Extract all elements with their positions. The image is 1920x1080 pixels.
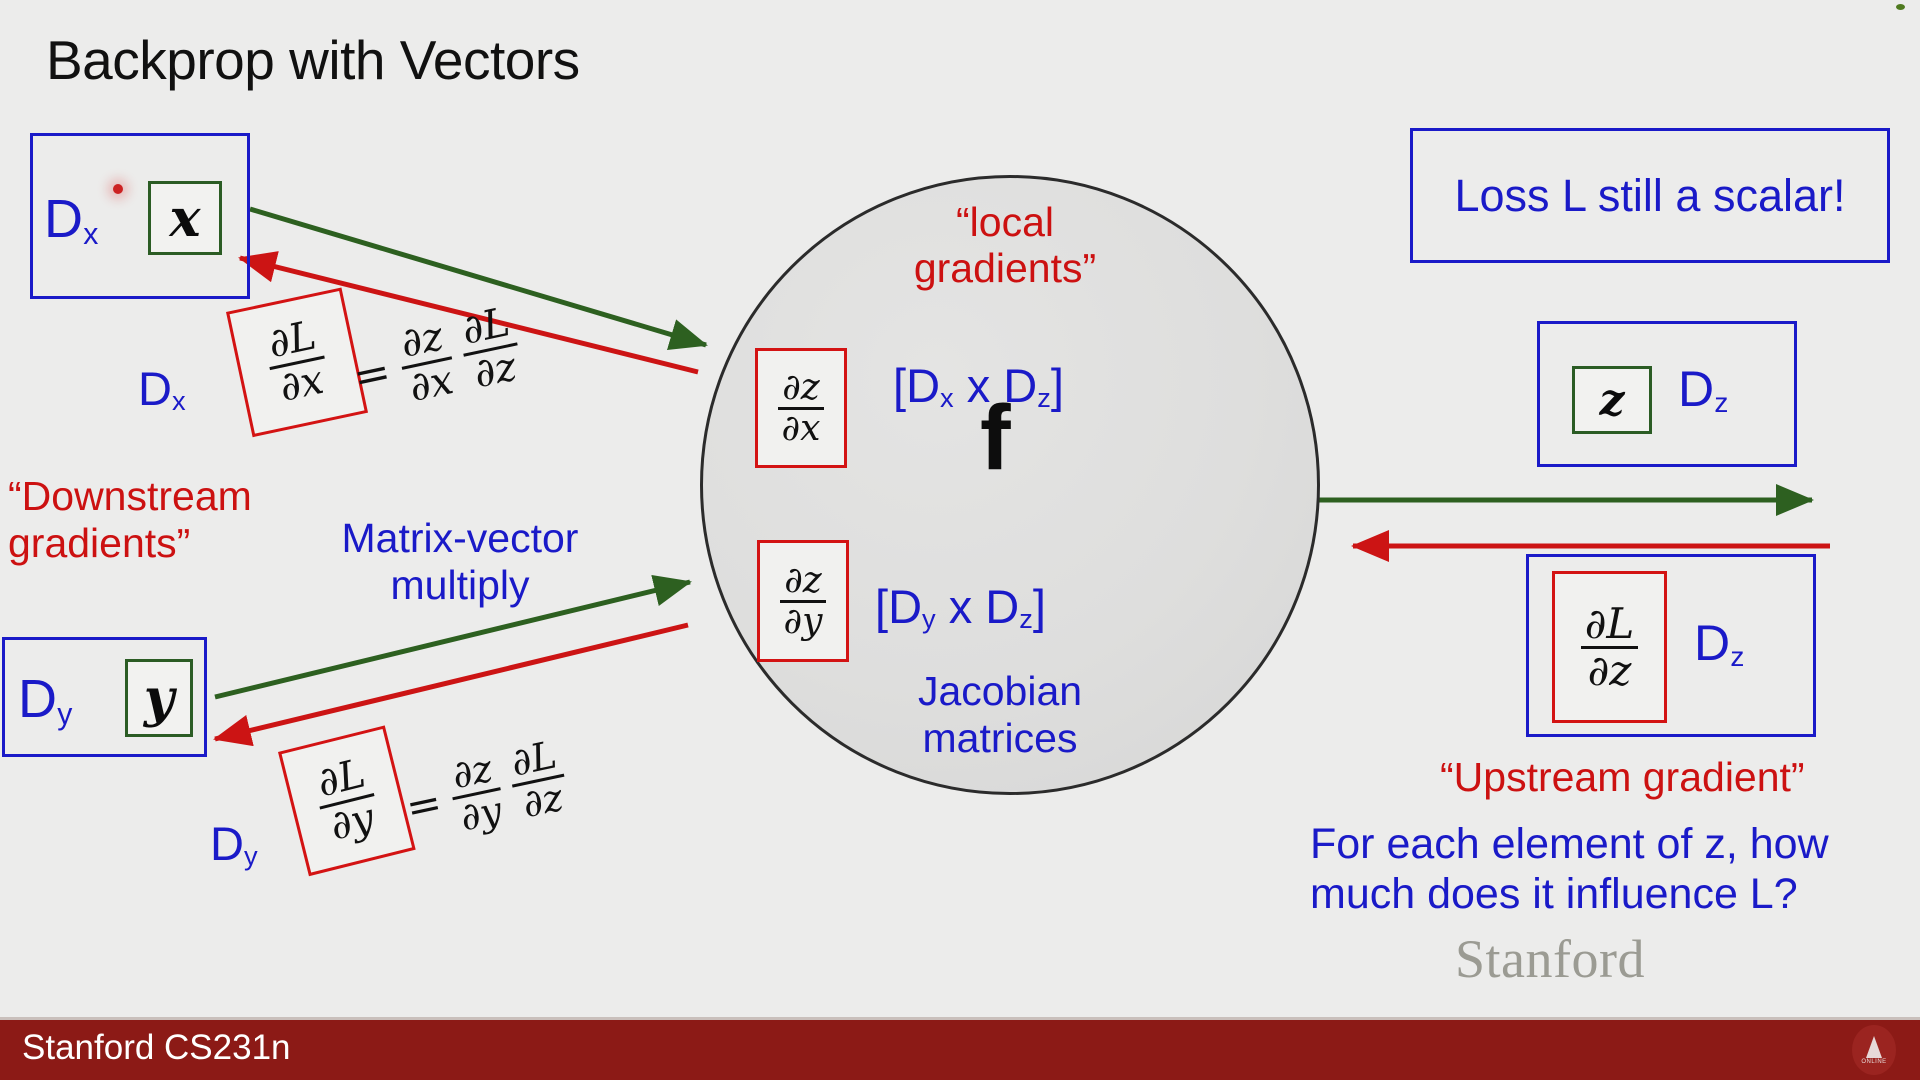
tree-shape: [1866, 1036, 1882, 1058]
shape-2-a: D: [888, 580, 922, 633]
downstream-x-dim-sub: x: [172, 385, 186, 416]
output-z-dim-label: Dz: [1678, 364, 1728, 414]
input-y-variable: y: [144, 668, 174, 729]
input-y-dim-d: D: [18, 669, 57, 729]
downstream-x-lhs-frac: ∂L ∂x: [261, 314, 333, 410]
upstream-dim-sub: z: [1730, 641, 1744, 672]
downstream-x-equation: ∂L ∂x: [226, 287, 368, 437]
downstream-y-dim-label: Dy: [210, 820, 258, 867]
downstream-caption-line-2: gradients”: [8, 520, 252, 567]
input-x-dim-sub: x: [83, 218, 98, 251]
seal-online-label: ONLINE: [1861, 1059, 1886, 1065]
downstream-x-term2: ∂L ∂z: [455, 301, 527, 397]
function-letter-f: f: [980, 392, 1011, 484]
upstream-gradient-caption: “Upstream gradient”: [1440, 754, 1805, 801]
input-x-variable: x: [169, 188, 200, 249]
shape-1-a-sub: x: [940, 382, 954, 413]
downstream-y-t1-den: ∂y: [452, 787, 509, 839]
downstream-y-dim-d: D: [210, 817, 244, 870]
local-gradient-dz-dx-box: ∂z ∂x: [755, 348, 847, 468]
upstream-grad-num: ∂L: [1581, 602, 1639, 646]
downstream-x-lhs-box: ∂L ∂x: [226, 287, 368, 437]
footer-bar: Stanford CS231n ONLINE: [0, 1017, 1920, 1080]
input-y-dim-label: Dy: [18, 672, 72, 726]
downstream-y-lhs-frac: ∂L ∂y: [310, 752, 384, 849]
input-x-dim-label: Dx: [44, 192, 98, 246]
stanford-watermark: Stanford: [1455, 928, 1645, 990]
downstream-y-rhs: = ∂z ∂y ∂L ∂z: [398, 734, 573, 848]
shape-1-a: D: [906, 359, 940, 412]
local-gradient-dz-dy-box: ∂z ∂y: [757, 540, 849, 662]
matrix-vector-multiply-caption: Matrix-vector multiply: [330, 515, 590, 609]
jacobian-matrices-caption: Jacobian matrices: [875, 668, 1125, 762]
downstream-gradients-caption: “Downstream gradients”: [8, 473, 252, 566]
local-gradient-dz-dx-frac: ∂z ∂x: [778, 369, 825, 447]
jacobian-line-2: matrices: [875, 715, 1125, 762]
stanford-tree-icon: ONLINE: [1852, 1025, 1896, 1075]
output-z-variable: z: [1600, 375, 1625, 426]
downstream-y-dim-sub: y: [244, 840, 258, 871]
backward-arrow-f-to-y: [215, 625, 688, 739]
downstream-x-rhs: = ∂z ∂x ∂L ∂z: [345, 301, 527, 420]
upstream-grad-dim-label: Dz: [1694, 618, 1744, 668]
shape-1-b-sub: z: [1037, 382, 1051, 413]
downstream-y-term2: ∂L ∂z: [504, 734, 573, 825]
output-z-dim-d: D: [1678, 361, 1714, 417]
shape-1-close: ]: [1051, 359, 1064, 412]
local-gradients-line-1: “local: [890, 200, 1120, 246]
jacobian-line-1: Jacobian: [875, 668, 1125, 715]
local-gradient-2-num: ∂z: [780, 562, 827, 599]
shape-2-times: x: [949, 580, 973, 633]
input-y-dim-sub: y: [57, 698, 72, 731]
matrix-vector-line-1: Matrix-vector: [330, 515, 590, 562]
shape-2-b: D: [985, 580, 1019, 633]
footer-course-label: Stanford CS231n: [22, 1030, 291, 1065]
upstream-explain-text: For each element of z, how much does it …: [1310, 820, 1910, 920]
upstream-explain-line-2: much does it influence L?: [1310, 870, 1910, 920]
downstream-caption-line-1: “Downstream: [8, 473, 252, 520]
input-y-variable-box: y: [125, 659, 193, 737]
local-gradient-dz-dy-frac: ∂z ∂y: [780, 562, 827, 640]
upstream-gradient-frac-box: ∂L ∂z: [1552, 571, 1667, 723]
upstream-dim-d: D: [1694, 615, 1730, 671]
upstream-explain-line-1: For each element of z, how: [1310, 820, 1910, 870]
downstream-y-lhs-box: ∂L ∂y: [278, 725, 416, 876]
slide-canvas: Backprop with Vectors: [0, 0, 1920, 1080]
local-gradient-1-num: ∂z: [778, 369, 825, 406]
upstream-grad-den: ∂z: [1581, 646, 1639, 693]
shape-2-b-sub: z: [1019, 603, 1033, 634]
local-gradient-1-shape: [Dx x Dz]: [893, 362, 1064, 409]
input-x-variable-box: x: [148, 181, 222, 255]
local-gradient-2-den: ∂y: [780, 600, 827, 640]
local-gradient-2-shape: [Dy x Dz]: [875, 583, 1046, 630]
laser-pointer-dot: [113, 184, 123, 194]
output-z-variable-box: z: [1572, 366, 1652, 434]
green-corner-dot: [1896, 4, 1905, 10]
shape-2-open: [: [875, 580, 888, 633]
shape-2-close: ]: [1033, 580, 1046, 633]
output-z-dim-sub: z: [1714, 387, 1728, 418]
local-gradients-caption: “local gradients”: [890, 200, 1120, 292]
matrix-vector-line-2: multiply: [330, 562, 590, 609]
downstream-x-term1: ∂z ∂x: [393, 315, 461, 410]
downstream-y-equation: ∂L ∂y: [278, 725, 416, 876]
local-gradient-1-den: ∂x: [778, 407, 825, 447]
upstream-gradient-frac: ∂L ∂z: [1581, 602, 1639, 692]
loss-note-text: Loss L still a scalar!: [1455, 170, 1846, 222]
loss-note-box: Loss L still a scalar!: [1410, 128, 1890, 263]
downstream-x-dim-d: D: [138, 362, 172, 415]
downstream-y-term1: ∂z ∂y: [444, 748, 509, 838]
downstream-x-t1-den: ∂x: [401, 356, 460, 410]
local-gradients-line-2: gradients”: [890, 246, 1120, 292]
input-x-dim-d: D: [44, 189, 83, 249]
downstream-x-dim-label: Dx: [138, 365, 186, 412]
shape-2-a-sub: y: [922, 603, 936, 634]
page-title: Backprop with Vectors: [46, 28, 580, 92]
shape-1-open: [: [893, 359, 906, 412]
